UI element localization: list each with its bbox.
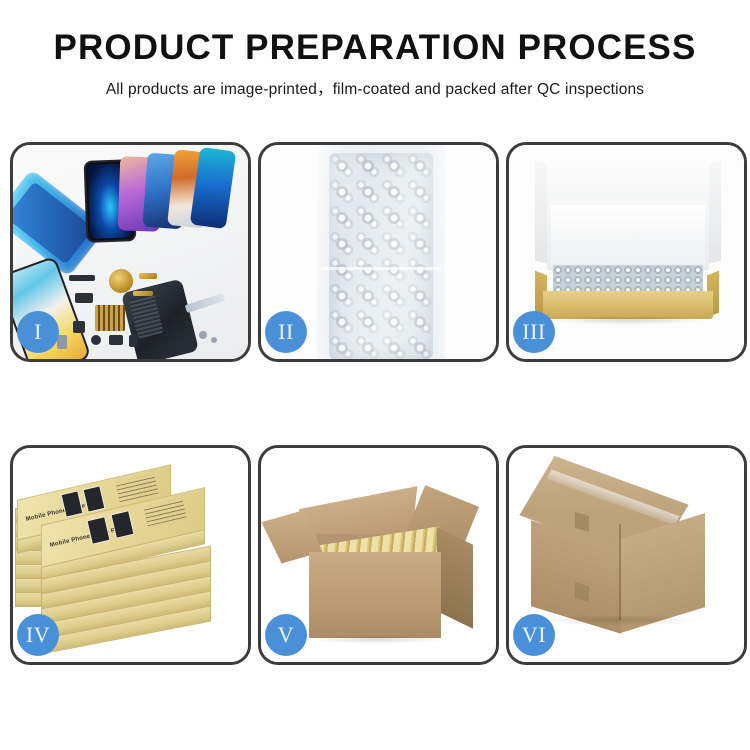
step-badge-6: VI: [513, 614, 555, 656]
step-panel-4: Mobile Phone Spare Parts Mobile Phone Sp…: [10, 445, 251, 665]
flex-cable-part: [69, 275, 95, 281]
sim-tray-part: [129, 335, 137, 347]
page-header: PRODUCT PREPARATION PROCESS All products…: [0, 0, 750, 99]
screw-part: [57, 335, 67, 349]
step-badge-2: II: [265, 311, 307, 353]
carton-side-right: [437, 527, 473, 629]
page-title: PRODUCT PREPARATION PROCESS: [0, 30, 750, 67]
button-part: [91, 335, 101, 345]
carton-vertical-edge: [619, 524, 621, 620]
step-panel-2: II: [258, 142, 499, 362]
step-panel-6: VI: [506, 445, 747, 665]
step-badge-4: IV: [17, 614, 59, 656]
product-preparation-page: PRODUCT PREPARATION PROCESS All products…: [0, 0, 750, 750]
screw-part: [211, 337, 217, 343]
step-panel-1: I: [10, 142, 251, 362]
screw-part: [199, 331, 207, 339]
connector-grid-part: [95, 305, 125, 331]
bubble-wrapped-contents: [553, 265, 703, 293]
speaker-part: [109, 335, 123, 345]
step-panel-5: V: [258, 445, 499, 665]
step-badge-5: V: [265, 614, 307, 656]
step-panel-3: III: [506, 142, 747, 362]
carton-shadow: [539, 616, 699, 626]
tweezers-tool: [185, 293, 226, 313]
process-step-grid: I II: [10, 142, 740, 665]
gold-contact-part: [139, 273, 157, 279]
camera-module-part: [75, 293, 93, 303]
page-subtitle: All products are image-printed，film-coat…: [0, 77, 750, 99]
carton-front-panel: [309, 552, 441, 638]
vibration-motor-part: [109, 269, 133, 293]
carton-shadow: [307, 636, 447, 644]
gold-contact-part: [133, 291, 153, 296]
foam-insert: [551, 205, 705, 267]
step-badge-1: I: [17, 311, 59, 353]
box-shadow: [549, 317, 707, 325]
step-badge-3: III: [513, 311, 555, 353]
bubble-wrap-gloss: [317, 145, 445, 359]
box-front-panel: [543, 291, 713, 319]
small-ic-part: [73, 321, 85, 333]
